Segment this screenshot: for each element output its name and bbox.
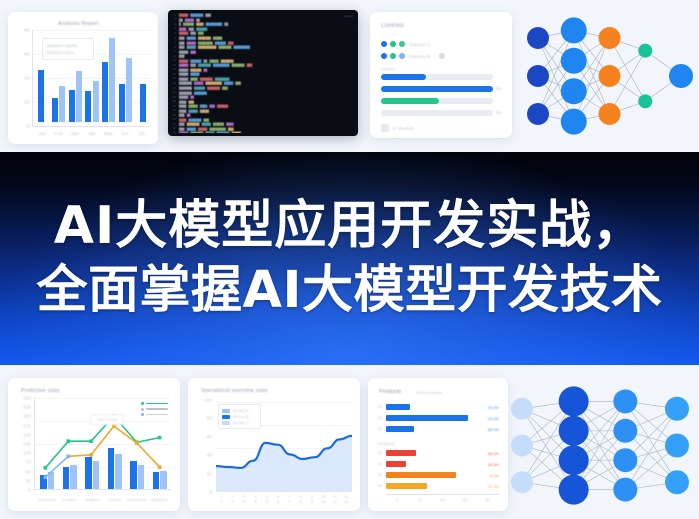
code-token: ███ [247,63,253,67]
y-tick: 250 [23,396,31,401]
line-number: 23 [170,114,179,117]
code-token: █████ [198,127,207,131]
code-token: ███████ [219,45,232,49]
code-token: ██ [224,22,228,26]
code-token: █████ [179,77,188,81]
hbar-row: 03 [378,426,414,433]
code-token: ███ [189,27,195,31]
x-tick: Jan [34,131,51,136]
y-axis-line [32,30,33,126]
code-token: █████ [179,72,188,76]
title-banner: AI大模型应用开发实战， 全面掌握AI大模型开发技术 [0,152,699,365]
line-number: 12 [170,64,179,67]
code-token: █████████ [205,81,221,85]
y-tick: 125 [23,442,31,447]
legend-item: Dataset alpha [47,42,89,49]
row-value: 68.20 [488,451,499,456]
code-token: ███ [205,13,211,17]
bar-track [381,86,493,92]
bar-chart-card: Analysis Report 80 60 40 20 0 JanFebMarA… [8,12,158,144]
row-key: 03 [378,427,386,431]
code-token: ███ [190,31,196,35]
area-legend: Series A Series B Series C [218,404,261,429]
line-number: 8 [170,46,179,49]
code-token: █████ [232,131,241,133]
hbar-row: 02 [378,415,468,422]
x-axis-line [216,491,352,492]
row-key: 01 [378,451,386,455]
bar-group [101,30,116,122]
line-number: 26 [170,127,179,130]
bar [102,62,108,122]
x-tick: 20 [409,498,432,502]
code-token: ██ [187,113,191,117]
bar [109,38,115,122]
line-number: 1 [170,14,179,17]
x-tick: May [100,131,117,136]
hbar-row: 01 [378,404,410,411]
code-token: ███ [222,86,228,90]
legend-item [141,408,168,411]
x-axis-line [386,494,499,495]
area-x-labels: 112233445566778899101011111212 [216,495,352,505]
bar [93,81,99,122]
hbar-row: 01 [378,450,416,457]
contrast-card: Contrast Dataset A Dataset B Values 68 [370,12,512,138]
legend-dot [141,402,144,405]
x-tick: Jul [133,131,150,136]
bar-fill [381,74,426,80]
code-token: █████ [190,72,199,76]
code-token: ███████ [198,36,211,40]
y-tick: 0 [209,490,212,495]
x-tick: Detailed [149,497,172,502]
code-token: █████ [194,81,203,85]
code-token: ███ [198,31,204,35]
footer-label: AI Models [392,126,414,131]
nn-edges [522,401,677,489]
code-token: ███ [179,54,185,58]
y-tick: 40 [24,76,30,81]
code-token: ███ [179,45,185,49]
code-editor-card[interactable]: main.py 1███████████████2█████████3█████… [168,10,358,136]
code-token: ██████ [196,27,207,31]
code-token: ██████ [215,41,226,45]
code-token: ██████ [190,68,201,72]
hbar-row: 04 [378,483,427,490]
x-tick: 80 [476,498,499,502]
horizontal-bar-card: Products Performance ⋯ 0122.010213.00035… [368,378,508,511]
x-axis-line [32,126,150,127]
code-token: ███████ [194,91,207,95]
line-number: 4 [170,27,179,30]
bar [386,483,427,489]
code-token: ███████ [207,86,220,90]
hbar-row: 02 [378,461,406,468]
x-tick: Graphs [81,497,104,502]
legend-dot [399,53,405,59]
code-token: ██████████ [198,45,216,49]
code-token: ███████ [179,91,192,95]
bar [76,71,82,122]
code-lines-container[interactable]: 1███████████████2█████████3█████████████… [170,13,354,133]
code-token: ███████ [179,81,192,85]
contrast-section-label: Values [381,66,395,71]
code-token: ███████ [232,63,245,67]
line-number: 27 [170,132,179,133]
code-token: ████ [179,27,186,31]
line-number: 22 [170,109,179,112]
line-number: 10 [170,55,179,58]
code-token: █████ [187,45,196,49]
x-tick: 1111 [329,495,340,505]
neural-network-diagram-top [520,0,699,152]
code-token: ████ [200,104,207,108]
code-token: ███████ [200,77,213,81]
code-token: ███████ [187,122,200,126]
code-token: ██████ [183,22,194,26]
area-chart-title: Operational overview stats [201,388,268,394]
legend-label: Series A [233,409,249,413]
x-tick: Revenue [36,497,59,502]
x-tick: 60 [454,498,477,502]
area-chart-card: Operational overview stats 100806040200 … [188,378,360,511]
code-token: ███████ [190,13,203,17]
code-token: ██ [204,68,208,72]
bar [386,415,468,421]
legend-label: Dataset B [409,54,430,59]
code-token: █████ [224,81,233,85]
hbar-title: Products [379,389,401,395]
x-tick: 1212 [341,495,352,505]
bar-value: 68 [496,86,501,91]
x-tick: 66 [273,495,284,505]
combo-y-axis: 2502252001751501251007550250 [13,398,31,490]
y-tick: 60 [207,434,212,439]
code-token: ██ [204,59,208,63]
legend-item [141,413,168,416]
code-token: █████ [189,104,198,108]
title-line-2: 全面掌握AI大模型开发技术 [37,261,663,321]
area-fill [216,436,352,491]
bar [386,472,456,478]
line-number: 6 [170,37,179,40]
code-token: ███████ [179,86,192,90]
code-token: ███ [179,122,185,126]
code-token: ███████ [198,63,211,67]
row-key: 01 [378,405,386,409]
bar-fill [381,86,493,92]
bar [85,91,91,122]
code-token: █████ [189,109,198,113]
legend-swatch [222,415,230,419]
y-tick: 0 [28,488,31,493]
line-number: 18 [170,91,179,94]
bar-chart-y-axis: 80 60 40 20 0 [14,30,30,126]
row-value: 59.00 [488,427,499,432]
code-token: █████ [179,50,188,54]
x-tick: 33 [239,495,250,505]
title-line-1: AI大模型应用开发实战， [54,196,646,257]
code-token: ███ [190,63,196,67]
code-token: █████████ [209,127,225,131]
combo-chart-card: Predictive stats 25022520017515012510075… [8,378,180,511]
bar-group [118,30,133,122]
legend-item: Dataset beta [47,49,89,56]
row-key: 04 [378,484,386,488]
legend-swatch [222,421,230,425]
x-tick: 55 [261,495,272,505]
contrast-title: Contrast [381,23,404,29]
code-token: ████████ [198,41,213,45]
code-token: ███████ [189,118,202,122]
y-tick: 25 [26,478,31,483]
combo-legend [141,402,168,416]
code-token: █████ [179,59,188,63]
legend-label: Series B [233,415,249,419]
y-tick: 80 [24,28,30,33]
legend-item [141,402,168,405]
code-token: ███ [235,81,241,85]
code-token: ██████ [213,122,224,126]
x-tick: Mar [67,131,84,136]
code-token: █████ [185,18,194,22]
x-tick: Jun [117,131,134,136]
hbar-row: 03 [378,472,456,479]
code-token: █████ [179,95,188,99]
line-number: 5 [170,32,179,35]
bar-group [135,30,150,122]
x-tick: Future [104,497,127,502]
code-token: ███ [179,36,185,40]
code-token: ████ [196,22,203,26]
code-token: ███ [228,41,234,45]
bar-fill [381,98,439,104]
legend-dot [381,53,387,59]
code-token: ██ [196,18,200,22]
bar-track [381,74,493,80]
bar-chart-legend: Dataset alpha Dataset beta [42,38,94,60]
y-tick: 0 [27,124,30,129]
code-token: █████ [213,36,222,40]
row-value: 36.84 [488,462,499,467]
legend-dot [399,41,405,47]
checkbox-icon[interactable] [381,124,389,132]
code-token: ████ [190,77,197,81]
line-number: 9 [170,50,179,53]
code-token: █████ [187,127,196,131]
code-token: █████ [209,59,218,63]
code-token: ███ [204,118,210,122]
code-line[interactable]: 27█████████████████████████████ [170,131,354,133]
y-tick: 40 [207,453,212,458]
code-token: █████ [179,13,188,17]
ellipsis-icon[interactable]: ⋯ [494,390,498,395]
legend-line [146,408,168,409]
legend-dot [390,53,396,59]
code-token: █████ [179,131,188,133]
x-axis-line [34,489,171,490]
y-tick: 225 [23,405,31,410]
line-number: 11 [170,59,179,62]
code-token: ██ [190,95,194,99]
area-y-axis: 100806040200 [194,400,212,492]
x-tick: 11 [216,495,227,505]
line-number: 14 [170,73,179,76]
code-token: █████████ [213,63,229,67]
code-token: ████ [179,100,186,104]
legend-line [146,403,168,404]
code-token: ███ [189,100,195,104]
legend-dot [141,413,144,416]
line-number: 3 [170,23,179,26]
line-number: 25 [170,123,179,126]
legend-dot [439,53,445,59]
x-tick: 77 [284,495,295,505]
code-token: ███████ [190,131,203,133]
hbar-x-labels: 020406080 [386,498,499,502]
bar [140,84,146,122]
bar [59,86,65,122]
row-value: 22.01 [488,405,499,410]
bar [38,70,44,122]
bar [386,450,416,456]
row-value: 41.56 [488,484,499,489]
code-token: ███ [179,113,185,117]
bar-value: 05 [496,110,501,115]
y-tick: 100 [23,451,31,456]
bar-chart-x-labels: JanFebMarAprMayJunJul [34,131,150,136]
code-token: ████ [179,109,186,113]
code-token: █████ [202,122,211,126]
legend-item: Series C [222,420,257,426]
bar [386,461,406,467]
x-tick: 22 [227,495,238,505]
y-tick: 20 [207,471,212,476]
line-number: 17 [170,87,179,90]
bar [52,98,58,122]
hbar-section-label: Regions [378,441,395,446]
line-number: 20 [170,100,179,103]
y-tick: 200 [23,414,31,419]
code-token: ██████ [217,104,228,108]
bar-track [381,110,493,116]
code-token: ███████ [217,131,230,133]
code-token: █████ [179,68,188,72]
code-token: ███████ [221,59,234,63]
line-number: 19 [170,96,179,99]
code-token: █████████ [234,45,250,49]
bar [119,84,125,122]
y-tick: 50 [26,469,31,474]
code-token: ██████ [194,86,205,90]
code-token: █████ [200,109,209,113]
x-tick: 1010 [318,495,329,505]
code-token: ███ [228,127,234,131]
x-tick: 40 [431,498,454,502]
x-tick: 99 [307,495,318,505]
x-tick: Executive [126,497,149,502]
legend-label: Series C [233,421,250,425]
combo-chart-title: Predictive stats [21,388,60,394]
code-token: ███ [190,50,196,54]
legend-line [146,414,168,415]
combo-x-labels: RevenueComboGraphsFutureExecutiveDetaile… [36,497,171,502]
code-token: █████ [179,63,188,67]
code-token: ████ [226,122,233,126]
y-tick: 75 [26,460,31,465]
contrast-legend-row-2: Dataset B [381,53,451,59]
poster-root: Analysis Report 80 60 40 20 0 JanFebMarA… [0,0,699,519]
line-number: 15 [170,77,179,80]
row-key: 02 [378,416,386,420]
code-token: ██ [179,18,183,22]
line-number: 24 [170,118,179,121]
y-tick: 80 [207,416,212,421]
x-tick: Apr [84,131,101,136]
line-number: 7 [170,41,179,44]
legend-dot [141,408,144,411]
row-value: 8.09 [490,473,499,478]
legend-dot [390,41,396,47]
code-token: █████ [187,36,196,40]
bar-track [381,98,493,104]
code-token: █████ [187,41,196,45]
code-token: █ [179,22,181,26]
line-number: 21 [170,105,179,108]
y-tick: 60 [24,52,30,57]
y-tick: 175 [23,423,31,428]
legend-dot [381,41,387,47]
code-token: █████ [179,31,188,35]
bar [386,404,410,410]
line-number: 16 [170,82,179,85]
code-token: ███ [209,104,215,108]
line-number: 2 [170,18,179,21]
line-number: 13 [170,68,179,71]
row-key: 03 [378,473,386,477]
hbar-subtitle: Performance [416,390,442,395]
x-tick: Combo [59,497,82,502]
combo-tooltip: 245.0 total [90,414,124,425]
bar [69,90,75,122]
code-token: ████████ [215,77,230,81]
row-key: 02 [378,462,386,466]
neural-network-diagram-bottom [500,372,699,519]
y-tick: 20 [24,100,30,105]
legend-swatch [222,409,230,413]
y-tick: 150 [23,432,31,437]
legend-label-extra [449,54,450,59]
x-tick: 88 [295,495,306,505]
contrast-legend-row-1: Dataset A [381,41,430,47]
bar [126,58,132,122]
code-token: ███ [179,127,185,131]
row-value: 13.00 [488,416,499,421]
y-tick: 100 [204,398,212,403]
code-token: ████ [179,118,186,122]
x-tick: Feb [51,131,68,136]
bar-chart-title: Analysis Report [58,21,99,27]
x-tick: 44 [250,495,261,505]
legend-label: Dataset A [409,42,430,47]
bar [386,426,414,432]
code-token: ██████ [190,59,201,63]
code-token: ███ [179,41,185,45]
code-token: ████ [179,104,186,108]
x-tick: 0 [386,498,409,502]
code-token: █████ [205,131,214,133]
